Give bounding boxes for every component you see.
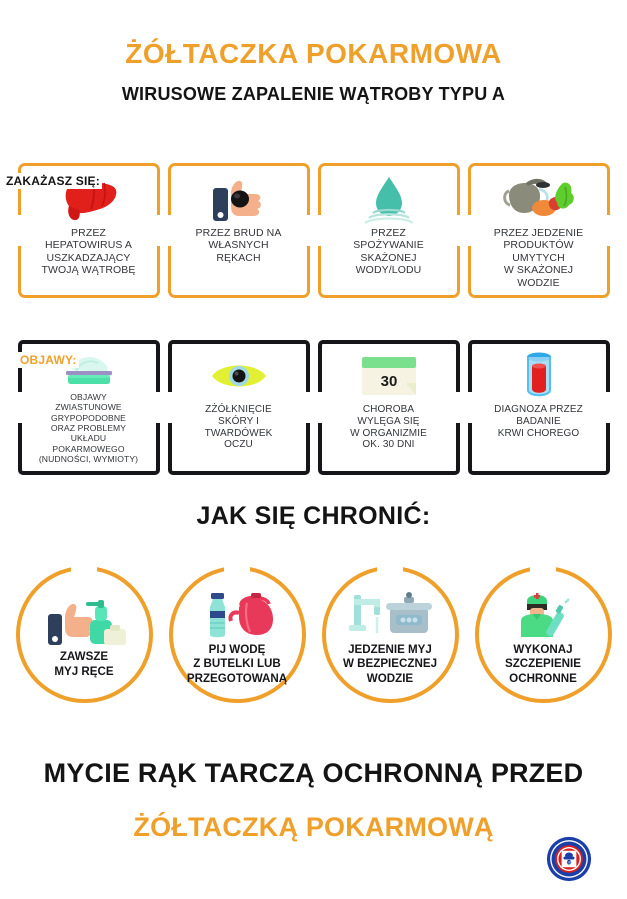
- calendar-day-number: 30: [380, 373, 397, 390]
- prevention-item-text: WYKONAJ SZCZEPIENIE OCHRONNE: [505, 643, 581, 685]
- prevention-item-wash-hands: ZAWSZE MYJ RĘCE: [12, 562, 157, 707]
- panstwowa-inspekcja-sanitarna-logo: GIS: [546, 836, 592, 882]
- svg-text:GIS: GIS: [566, 861, 572, 865]
- symptom-card-text: ZŻÓŁKNIĘCIE SKÓRY I TWARDÓWEK OCZU: [200, 404, 278, 451]
- hand-soap-icon: [42, 590, 126, 648]
- transmission-section-label: ZAKAŻASZ SIĘ:: [4, 173, 102, 189]
- calendar-30-icon: 30: [358, 348, 420, 404]
- prevention-item-vaccination: WYKONAJ SZCZEPIENIE OCHRONNE: [471, 562, 616, 707]
- prevention-item-text: PIJ WODĘ Z BUTELKI LUB PRZEGOTOWANĄ: [187, 643, 287, 685]
- tap-pot-icon: [346, 583, 434, 641]
- vaccination-doctor-icon: [503, 583, 583, 641]
- page-subtitle: WIRUSOWE ZAPALENIE WĄTROBY TYPU A: [0, 84, 627, 105]
- footer-slogan-line1: MYCIE RĄK TARCZĄ OCHRONNĄ PRZED: [0, 758, 627, 789]
- prevention-item-safe-water: PIJ WODĘ Z BUTELKI LUB PRZEGOTOWANĄ: [165, 562, 310, 707]
- transmission-card-dirty-hands: PRZEZ BRUD NA WŁASNYCH RĘKACH: [168, 163, 310, 298]
- bottle-kettle-icon: [195, 583, 279, 641]
- symptom-card-blood-test: DIAGNOZA PRZEZ BADANIE KRWI CHOREGO: [468, 340, 610, 475]
- prevention-item-text: JEDZENIE MYJ W BEZPIECZNEJ WODZIE: [343, 643, 437, 685]
- water-drop-icon: [361, 171, 417, 227]
- footer-slogan-line2: ŻÓŁTACZKĄ POKARMOWĄ: [0, 812, 627, 843]
- symptom-card-jaundice: ZŻÓŁKNIĘCIE SKÓRY I TWARDÓWEK OCZU: [168, 340, 310, 475]
- transmission-card-text: PRZEZ HEPATOWIRUS A USZKADZAJĄCY TWOJĄ W…: [36, 227, 140, 277]
- transmission-card-contaminated-water: PRZEZ SPOŻYWANIE SKAŻONEJ WODY/LODU: [318, 163, 460, 298]
- transmission-card-washed-produce: PRZEZ JEDZENIE PRODUKTÓW UMYTYCH W SKAŻO…: [468, 163, 610, 298]
- yellow-eye-icon: [208, 348, 270, 404]
- page-title: ŻÓŁTACZKA POKARMOWA: [0, 38, 627, 70]
- blood-test-tube-icon: [519, 348, 559, 404]
- prevention-item-text: ZAWSZE MYJ RĘCE: [54, 650, 113, 678]
- prevention-heading: JAK SIĘ CHRONIĆ:: [0, 502, 627, 531]
- symptoms-section-label: OBJAWY:: [18, 352, 79, 368]
- symptom-card-text: CHOROBA WYLĘGA SIĘ W ORGANIZMIE OK. 30 D…: [345, 404, 432, 451]
- symptoms-card-row: OBJAWY ZWIASTUNOWE GRYPOPODOBNE ORAZ PRO…: [0, 340, 627, 475]
- dirty-hand-icon: [209, 171, 269, 227]
- transmission-card-text: PRZEZ SPOŻYWANIE SKAŻONEJ WODY/LODU: [348, 227, 429, 277]
- symptom-card-incubation: 30 CHOROBA WYLĘGA SIĘ W ORGANIZMIE OK. 3…: [318, 340, 460, 475]
- symptom-card-text: DIAGNOZA PRZEZ BADANIE KRWI CHOREGO: [489, 404, 588, 439]
- symptom-card-text: OBJAWY ZWIASTUNOWE GRYPOPODOBNE ORAZ PRO…: [34, 392, 143, 464]
- transmission-card-text: PRZEZ JEDZENIE PRODUKTÓW UMYTYCH W SKAŻO…: [489, 227, 589, 289]
- prevention-circle-row: ZAWSZE MYJ RĘCE PIJ WODĘ Z BUTELKI LUB P…: [0, 562, 627, 707]
- infographic-page: ŻÓŁTACZKA POKARMOWA WIRUSOWE ZAPALENIE W…: [0, 0, 627, 899]
- vegetables-watering-can-icon: [501, 171, 577, 227]
- transmission-card-text: PRZEZ BRUD NA WŁASNYCH RĘKACH: [191, 227, 287, 264]
- prevention-item-wash-food: JEDZENIE MYJ W BEZPIECZNEJ WODZIE: [318, 562, 463, 707]
